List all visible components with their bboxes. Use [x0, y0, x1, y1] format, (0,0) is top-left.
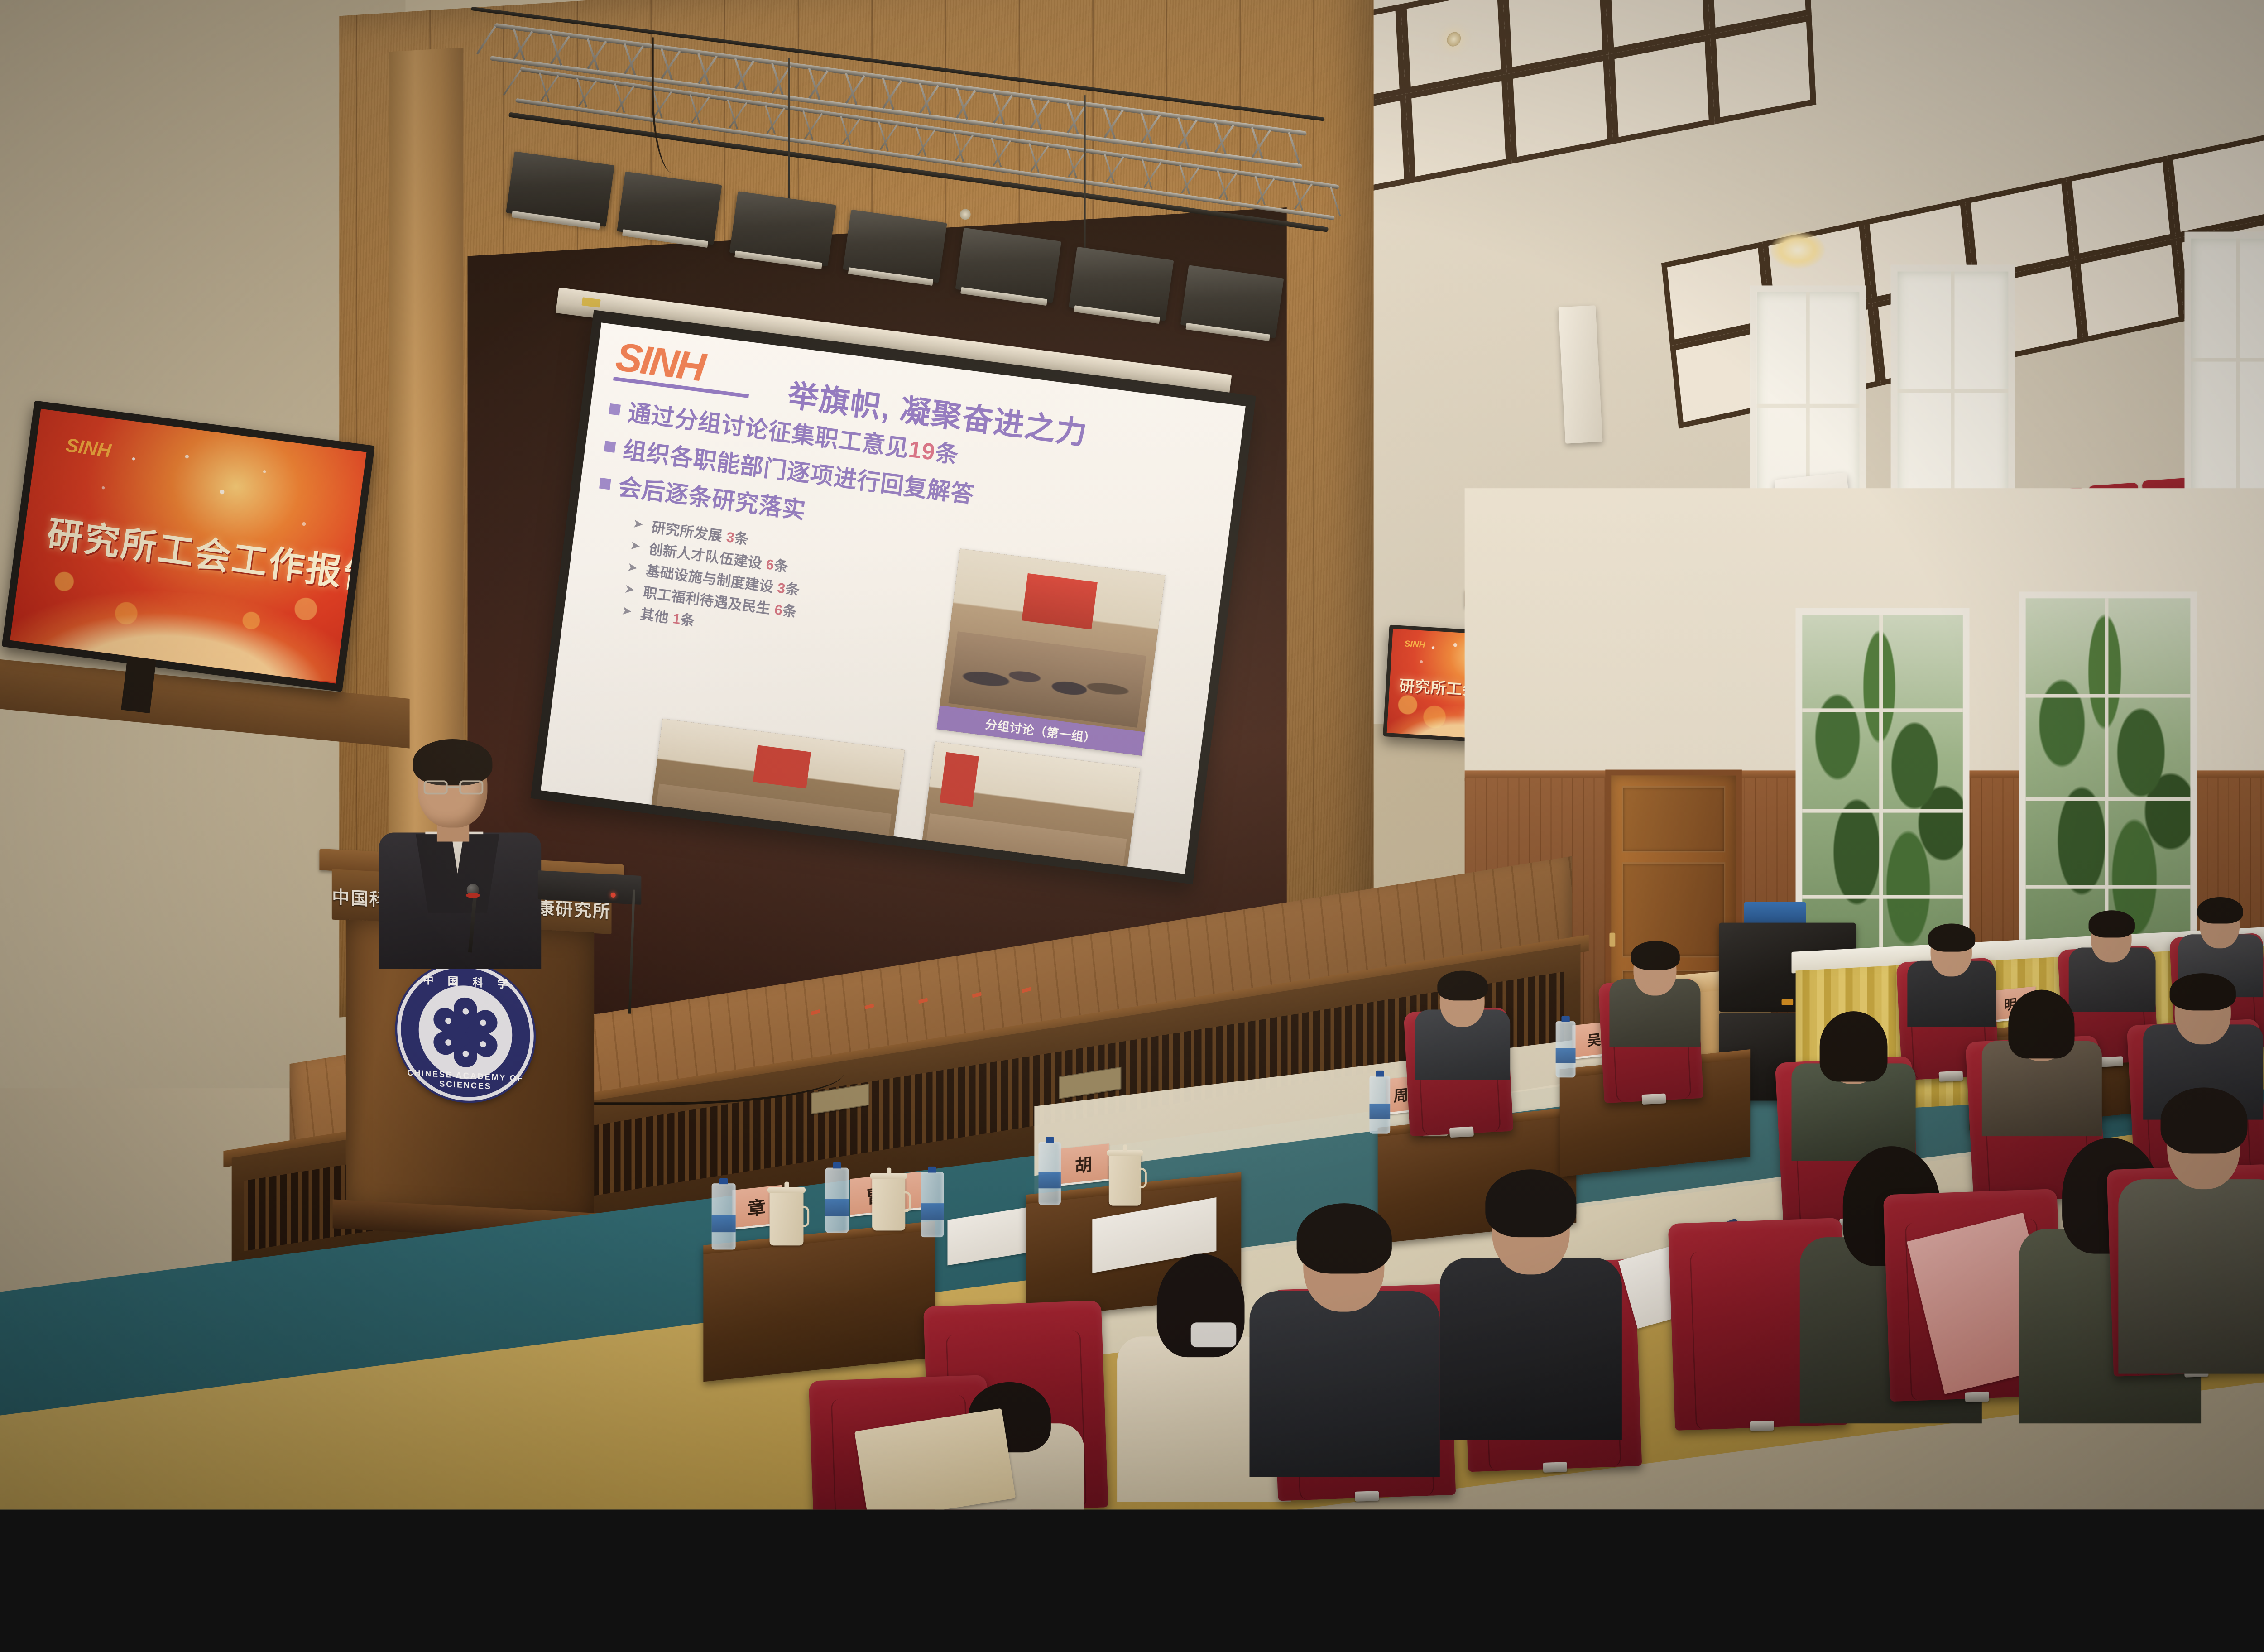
audience-hair	[2197, 897, 2243, 923]
microphone-indicator-ring	[466, 893, 480, 898]
arrow-icon: ➤	[632, 516, 645, 532]
white-column-speaker	[1559, 305, 1603, 443]
audience-member	[1609, 931, 1700, 1043]
delegate-name-card: 胡	[1059, 1143, 1109, 1186]
arrow-icon: ➤	[624, 581, 637, 597]
housing-label	[581, 297, 600, 307]
screen-surface: SINH 举旗帜, 凝聚奋进之力 通过分组讨论征集职工意见19条 组织各职能部门…	[541, 322, 1246, 874]
audience-hair	[1631, 941, 1680, 970]
presenter-laptop[interactable]	[538, 870, 641, 905]
recessed-ceiling-light	[1771, 232, 1825, 268]
cas-electron-dot	[463, 1051, 469, 1057]
stage-light-3	[729, 191, 836, 266]
water-bottle	[712, 1183, 736, 1249]
projection-screen: SINH 举旗帜, 凝聚奋进之力 通过分组讨论征集职工意见19条 组织各职能部门…	[530, 310, 1256, 884]
cas-electron-dot	[480, 1041, 486, 1047]
bullet-square-icon	[604, 441, 616, 453]
audience-jacket	[2118, 1179, 2264, 1373]
water-bottle	[1369, 1076, 1390, 1134]
bullet-square-icon	[599, 478, 611, 490]
audience-hair	[1437, 971, 1487, 1001]
face-mask-icon	[1191, 1322, 1237, 1347]
truss-diagonal	[1288, 132, 1300, 164]
sprinkler-head	[960, 209, 971, 220]
audience-hair	[2008, 990, 2074, 1059]
audience-member	[1440, 1154, 1622, 1440]
arrow-icon: ➤	[621, 603, 634, 619]
audience-member	[1982, 981, 2102, 1134]
water-bottle	[921, 1172, 944, 1237]
audience-hair	[1820, 1011, 1888, 1081]
arrow-icon: ➤	[626, 560, 639, 576]
upper-window-3	[2185, 232, 2264, 505]
water-bottle	[1556, 1021, 1576, 1077]
stage-light-2	[617, 172, 722, 245]
tv-monitor-left: SINH 研究所工会工作报告	[2, 400, 375, 692]
audience-member	[1250, 1187, 1440, 1477]
laptop-power-led-icon	[611, 893, 616, 898]
cas-flower-mark	[432, 998, 499, 1067]
stage-light-6	[1069, 247, 1174, 321]
lidded-teacup	[770, 1192, 804, 1246]
eyeglasses-icon	[424, 780, 484, 795]
sinh-logo: SINH	[614, 339, 706, 386]
audience-member	[2118, 1076, 2264, 1374]
lidded-teacup	[872, 1178, 905, 1231]
audience-hair	[1928, 923, 1975, 951]
audience-hair	[2161, 1087, 2248, 1153]
presenter	[372, 728, 546, 960]
presentation-slide: SINH 举旗帜, 凝聚奋进之力 通过分组讨论征集职工意见19条 组织各职能部门…	[541, 322, 1246, 874]
photo-image	[940, 548, 1165, 732]
stage-light-1	[506, 151, 614, 227]
stage-light-7	[1180, 265, 1284, 338]
lidded-teacup	[1109, 1154, 1141, 1205]
audience-hair	[1297, 1203, 1392, 1273]
stage-light-5	[955, 228, 1061, 303]
audience-jacket	[1440, 1258, 1622, 1440]
audience-jacket	[1250, 1291, 1440, 1477]
water-bottle	[825, 1168, 849, 1233]
audience-hair	[2170, 973, 2236, 1010]
truss-hanger-right	[1084, 95, 1086, 273]
cas-emblem-icon: 中国科学院 CHINESE ACADEMY OF SCIENCES	[397, 960, 534, 1104]
water-bottle	[1038, 1142, 1060, 1205]
wood-plank-seam	[1313, 0, 1314, 956]
bullet-square-icon	[609, 403, 621, 416]
audience-hair	[2089, 910, 2135, 937]
cas-electron-dot	[463, 1008, 469, 1014]
conference-hall-photo: SINH 举旗帜, 凝聚奋进之力 通过分组讨论征集职工意见19条 组织各职能部门…	[0, 0, 2264, 1509]
arrow-icon: ➤	[629, 538, 642, 554]
presenter-hair	[413, 739, 492, 785]
audience-hair	[1485, 1169, 1576, 1237]
audience-member	[1415, 960, 1510, 1076]
door-panel-top	[1622, 786, 1725, 852]
stage-light-4	[843, 210, 947, 283]
slide-photo-group1: 分组讨论（第一组）	[937, 548, 1166, 756]
tv-screen-left: SINH 研究所工会工作报告	[10, 409, 366, 684]
sinh-logo-icon: SINH	[1404, 639, 1425, 650]
aisle-side-table	[703, 1221, 935, 1382]
